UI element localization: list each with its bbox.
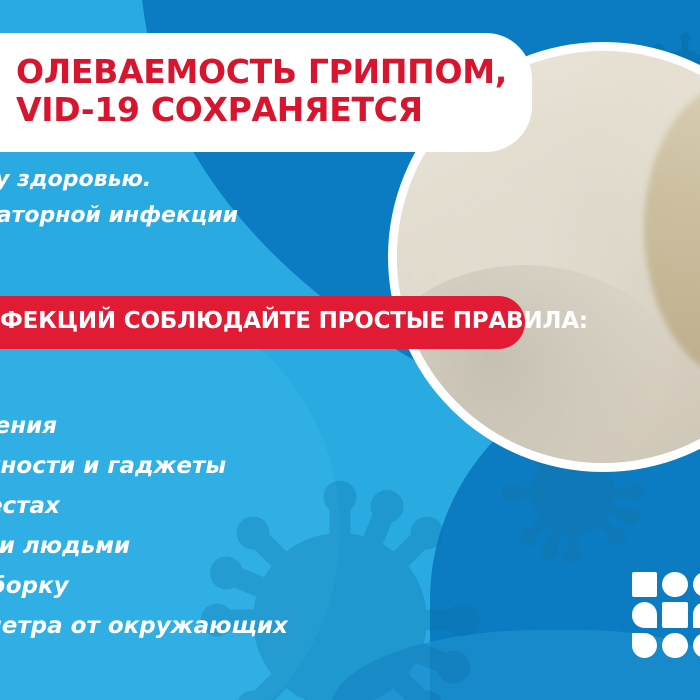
- logo-cell-square-icon: [632, 572, 657, 597]
- organization-logo: [632, 572, 700, 658]
- logo-cell-leaf-icon: [632, 633, 657, 658]
- infographic-poster: ОЛЕВАЕМОСТЬ ГРИППОМ, VID-19 СОХРАНЯЕТСЯ …: [0, 0, 700, 700]
- logo-cell-leaf-icon: [632, 602, 657, 627]
- list-item: ественных местах: [0, 495, 520, 518]
- rules-list: вайте помещения бочие поверхности и гадж…: [0, 415, 520, 655]
- logo-grid: [632, 572, 700, 658]
- subtitle-block: ы к своему здоровью. ах респираторной ин…: [0, 162, 510, 269]
- title-banner: ОЛЕВАЕМОСТЬ ГРИППОМ, VID-19 СОХРАНЯЕТСЯ: [0, 33, 532, 152]
- logo-cell-circle-icon: [662, 633, 687, 658]
- rules-heading-banner: ФЕКЦИЙ СОБЛЮДАЙТЕ ПРОСТЫЕ ПРАВИЛА:: [0, 296, 525, 349]
- title-line-2: VID-19 СОХРАНЯЕТСЯ: [16, 91, 506, 129]
- list-item: вайте помещения: [0, 415, 520, 438]
- title-line-1: ОЛЕВАЕМОСТЬ ГРИППОМ,: [16, 53, 506, 91]
- list-item: е влажную уборку: [0, 575, 520, 598]
- logo-cell-square-icon: [662, 602, 687, 627]
- logo-cell-leaf-icon: [693, 633, 700, 658]
- list-item: бочие поверхности и гаджеты: [0, 455, 520, 478]
- list-item: ов с больными людьми: [0, 535, 520, 558]
- logo-cell-circle-icon: [662, 572, 687, 597]
- subtitle-line-2: ах респираторной инфекции: [0, 198, 510, 234]
- subtitle-line-1: ы к своему здоровью.: [0, 162, 510, 198]
- logo-cell-leaf-icon: [693, 602, 700, 627]
- list-item: оянии 1,5–2 метра от окружающих: [0, 615, 520, 638]
- logo-cell-circle-icon: [693, 572, 700, 597]
- rules-heading-text: ФЕКЦИЙ СОБЛЮДАЙТЕ ПРОСТЫЕ ПРАВИЛА:: [0, 308, 501, 336]
- subtitle-line-3: у!: [0, 233, 510, 269]
